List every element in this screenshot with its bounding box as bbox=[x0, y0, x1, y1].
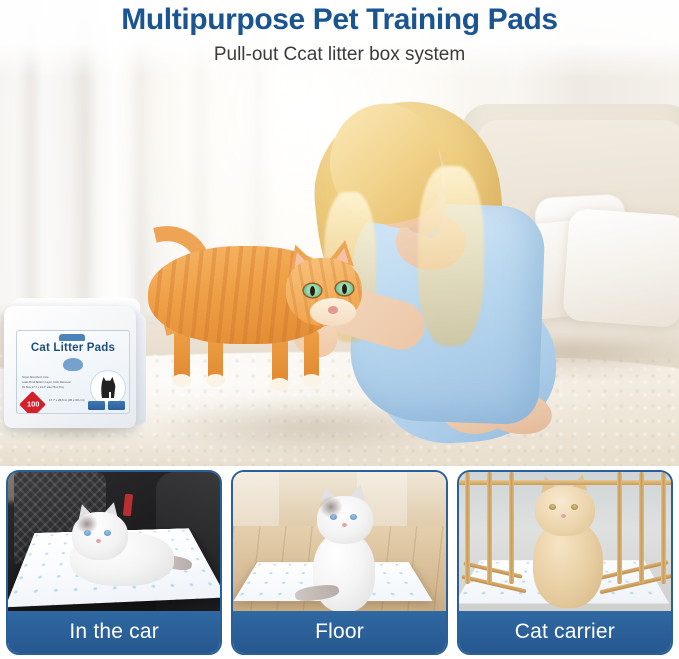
cat-silhouette-icon bbox=[99, 376, 117, 400]
brand-logo-icon bbox=[59, 334, 85, 341]
package-certification-badges bbox=[88, 401, 125, 410]
cat-nose bbox=[561, 514, 566, 518]
cat-eye bbox=[304, 284, 321, 297]
use-case-panel-carrier[interactable]: Cat carrier bbox=[457, 470, 673, 655]
cage-bar bbox=[487, 472, 492, 584]
cat-eye bbox=[549, 504, 556, 510]
cat-nose bbox=[328, 306, 338, 314]
cage-bar bbox=[617, 472, 622, 584]
cat-body bbox=[313, 532, 375, 612]
cage-bar bbox=[465, 472, 470, 584]
page-subtitle: Pull-out Ccat litter box system bbox=[0, 44, 679, 66]
cat-head bbox=[535, 486, 595, 536]
hair-lock bbox=[418, 166, 484, 346]
package-count-value: 100 bbox=[24, 399, 43, 408]
package-feature-list: Super Absorbent Core Leak-Proof Bottom L… bbox=[22, 375, 88, 390]
cage-bar bbox=[661, 472, 666, 584]
cat-eye bbox=[104, 530, 111, 536]
cage-bar bbox=[509, 472, 514, 584]
panel-photo-floor bbox=[233, 472, 445, 614]
panel-caption-car: In the car bbox=[8, 611, 220, 653]
white-cat-floor bbox=[299, 490, 395, 612]
cert-badge-icon bbox=[88, 401, 105, 410]
cert-badge-icon bbox=[108, 401, 125, 410]
package-cat-illustration bbox=[91, 371, 125, 405]
hero-lifestyle-photo: Cat Litter Pads Super Absorbent Core Lea… bbox=[0, 0, 679, 466]
cat-paw bbox=[172, 374, 191, 387]
golden-cat-carrier bbox=[521, 478, 621, 610]
cat-paw bbox=[302, 374, 321, 387]
cat-paw bbox=[270, 378, 289, 391]
package-product-name: Cat Litter Pads bbox=[17, 342, 129, 354]
cat-eye bbox=[84, 530, 91, 536]
package-graphic-icon bbox=[63, 358, 83, 371]
use-case-panel-floor[interactable]: Floor bbox=[231, 470, 447, 655]
white-cat-car bbox=[60, 506, 180, 592]
package-label: Cat Litter Pads Super Absorbent Core Lea… bbox=[16, 330, 130, 414]
page-title: Multipurpose Pet Training Pads bbox=[0, 3, 679, 37]
cat-leg bbox=[304, 328, 319, 380]
product-package: Cat Litter Pads Super Absorbent Core Lea… bbox=[2, 292, 150, 442]
use-case-panel-car[interactable]: In the car bbox=[6, 470, 222, 655]
package-size-text: 17.7 x 23.6 in (45 x 60 cm) bbox=[49, 398, 85, 402]
panel-caption-floor: Floor bbox=[233, 611, 445, 653]
package-count-badge: 100 bbox=[19, 391, 46, 414]
cat-eye bbox=[336, 282, 353, 295]
product-image-canvas: Cat Litter Pads Super Absorbent Core Lea… bbox=[0, 0, 679, 659]
panel-photo-carrier bbox=[459, 472, 671, 614]
panel-photo-car bbox=[8, 472, 220, 614]
cat-pupil bbox=[342, 284, 347, 294]
cat-pupil bbox=[310, 286, 315, 296]
cage-bar bbox=[639, 472, 644, 584]
use-case-panels: In the car bbox=[0, 466, 679, 659]
sofa-cushion bbox=[562, 208, 679, 328]
panel-caption-carrier: Cat carrier bbox=[459, 611, 671, 653]
cat-nose bbox=[96, 539, 101, 543]
curtain bbox=[233, 472, 279, 530]
cat-paw bbox=[206, 374, 225, 387]
cat-eye bbox=[571, 504, 578, 510]
package-feature: Fit Size 17.7 x 23.6" Litter Box Tray bbox=[22, 385, 88, 390]
